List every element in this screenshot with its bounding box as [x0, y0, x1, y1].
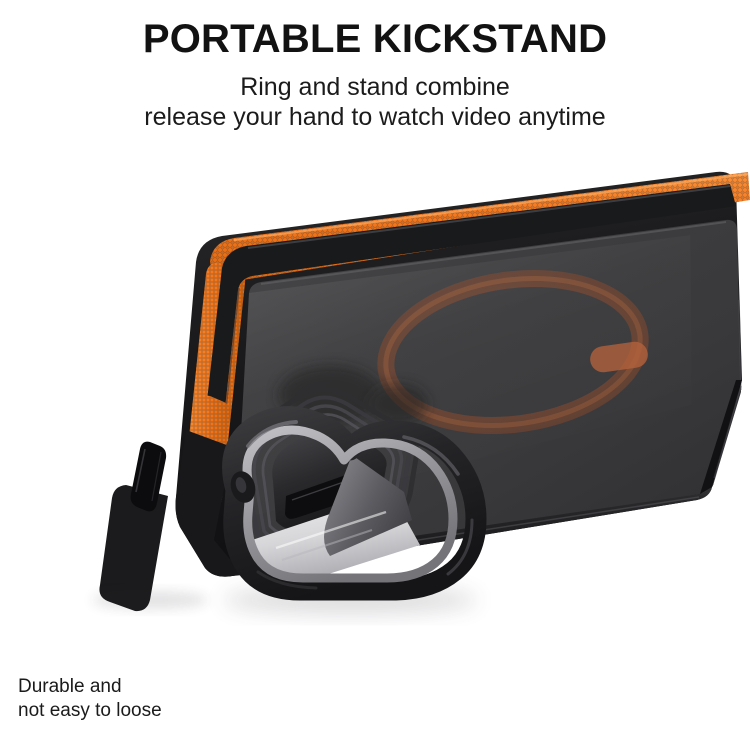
footnote-line-1: Durable and — [18, 675, 162, 699]
product-marketing-image: PORTABLE KICKSTAND Ring and stand combin… — [0, 0, 750, 750]
subtitle-line-1: Ring and stand combine — [0, 72, 750, 102]
footnote-caption: Durable and not easy to loose — [18, 675, 162, 723]
page-title: PORTABLE KICKSTAND — [0, 17, 750, 62]
subtitle: Ring and stand combine release your hand… — [0, 72, 750, 132]
footnote-line-2: not easy to loose — [18, 699, 162, 723]
subtitle-line-2: release your hand to watch video anytime — [0, 102, 750, 132]
